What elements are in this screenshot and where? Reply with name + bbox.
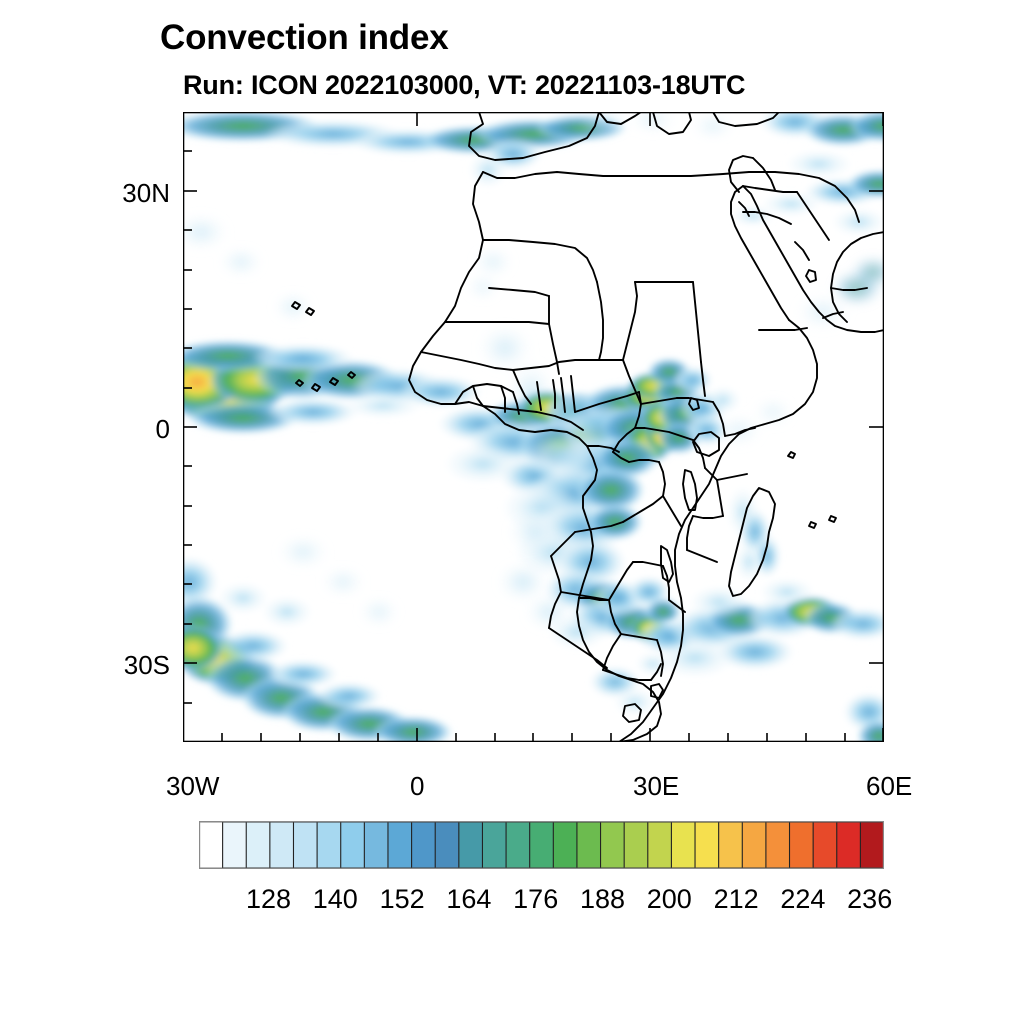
colorbar-tick-label: 236 [847, 884, 892, 915]
colorbar-cell [601, 822, 625, 868]
colorbar-cell [790, 822, 814, 868]
colorbar-cell [270, 822, 294, 868]
colorbar-tick-label: 188 [580, 884, 625, 915]
y-tick-label-30n: 30N [60, 178, 170, 209]
colorbar-cell [199, 822, 223, 868]
colorbar-cell [813, 822, 837, 868]
colorbar-tick-label: 152 [380, 884, 425, 915]
colorbar[interactable] [199, 821, 884, 869]
colorbar-cell [624, 822, 648, 868]
colorbar-cell [530, 822, 554, 868]
colorbar-tick-label: 176 [513, 884, 558, 915]
colorbar-cell [648, 822, 672, 868]
colorbar-cell [435, 822, 459, 868]
colorbar-tick-label: 140 [313, 884, 358, 915]
colorbar-cell [766, 822, 790, 868]
colorbar-cell [506, 822, 530, 868]
colorbar-cell [459, 822, 483, 868]
colorbar-svg[interactable] [199, 821, 884, 869]
colorbar-cell [719, 822, 743, 868]
colorbar-cell [482, 822, 506, 868]
colorbar-cell [695, 822, 719, 868]
colorbar-cell [553, 822, 577, 868]
x-tick-label-30w: 30W [166, 771, 219, 802]
colorbar-cell [364, 822, 388, 868]
colorbar-cells[interactable] [199, 822, 884, 868]
colorbar-cell [293, 822, 317, 868]
colorbar-cell [837, 822, 861, 868]
colorbar-cell [388, 822, 412, 868]
colorbar-tick-label: 224 [780, 884, 825, 915]
page-title: Convection index [160, 18, 449, 58]
figure-subtitle: Run: ICON 2022103000, VT: 20221103-18UTC [183, 70, 745, 101]
colorbar-cell [341, 822, 365, 868]
colorbar-cell [742, 822, 766, 868]
colorbar-cell [246, 822, 270, 868]
map-plot [183, 112, 884, 742]
x-tick-label-0: 0 [410, 771, 424, 802]
colorbar-tick-label: 212 [714, 884, 759, 915]
colorbar-cell [412, 822, 436, 868]
colorbar-cell [317, 822, 341, 868]
colorbar-tick-label: 200 [647, 884, 692, 915]
colorbar-tick-label: 128 [246, 884, 291, 915]
x-tick-label-60e: 60E [866, 771, 912, 802]
colorbar-cell [577, 822, 601, 868]
colorbar-cell [860, 822, 884, 868]
x-tick-label-30e: 30E [633, 771, 679, 802]
y-tick-label-30s: 30S [60, 650, 170, 681]
colorbar-cell [223, 822, 247, 868]
figure-canvas: Convection index Run: ICON 2022103000, V… [0, 0, 1024, 1024]
map-svg [183, 112, 884, 742]
colorbar-cell [671, 822, 695, 868]
colorbar-tick-label: 164 [446, 884, 491, 915]
y-tick-label-0: 0 [60, 414, 170, 445]
